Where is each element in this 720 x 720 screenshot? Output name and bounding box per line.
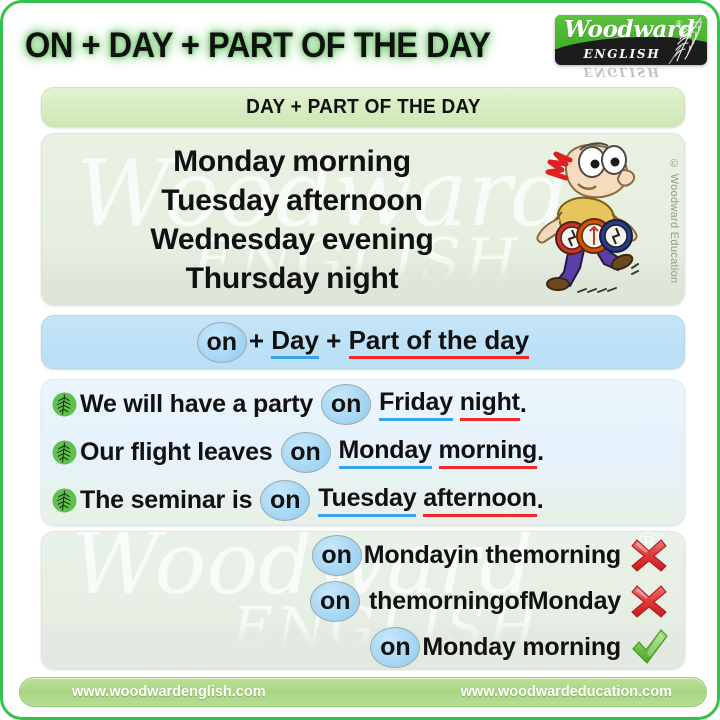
running-man-with-clocks-icon (526, 140, 646, 300)
phrase-italic: in the (457, 541, 522, 570)
fern-leaf-icon (661, 15, 705, 65)
phrase-italic-2: of (505, 587, 528, 616)
correct-incorrect-box: Woodward ENGLISH ® on Monday in the morn… (41, 531, 685, 669)
formula-day: Day (271, 325, 319, 359)
day-part-list: Mondaymorning Tuesdayafternoon Wednesday… (42, 142, 542, 298)
part-label: afternoon (286, 184, 423, 217)
list-item: Our flight leaves on Monday morning . (42, 428, 684, 476)
sentence-lead: Our flight leaves (80, 438, 273, 467)
list-item: Thursdaynight (42, 259, 542, 298)
formula-bar: on + Day + Part of the day (41, 315, 685, 369)
sentence-lead: We will have a party (80, 390, 313, 419)
on-chip: on (281, 432, 331, 473)
fern-leaf-bullet-icon (52, 488, 77, 513)
sentence-period: . (520, 390, 527, 419)
sentence-part: night (460, 388, 520, 421)
sentence-space (432, 438, 439, 467)
list-item: The seminar is on Tuesday afternoon . (42, 476, 684, 524)
on-chip-label: on (312, 535, 362, 576)
day-label: Monday (173, 145, 285, 178)
on-chip-label: on (321, 384, 371, 425)
formula-part-of-day: Part of the day (349, 325, 530, 359)
formula-plus-2: + (326, 325, 341, 355)
footer-url-english[interactable]: www.woodwardenglish.com (72, 684, 266, 700)
list-item: Tuesdayafternoon (42, 181, 542, 220)
on-chip-label: on (197, 322, 247, 363)
logo-reflection-text: ENGLISH (555, 65, 689, 79)
list-item: on Monday in the morning (42, 532, 684, 578)
formula-plus-1: + (249, 325, 264, 355)
phrase-before: Monday (364, 541, 457, 570)
part-label: evening (322, 223, 434, 256)
check-icon (630, 629, 668, 665)
formula-expression: on + Day + Part of the day (197, 322, 529, 363)
logo-plate: Woodward ® ENGLISH (555, 15, 707, 65)
list-item: Wednesdayevening (42, 220, 542, 259)
on-chip: on (197, 322, 247, 363)
on-chip-label: on (281, 432, 331, 473)
footer: www.woodwardenglish.com www.woodwardeduc… (19, 677, 707, 707)
on-chip-label: on (370, 627, 420, 668)
part-label: morning (292, 145, 411, 178)
phrase-after-2: Monday (528, 587, 621, 616)
sentence-part: afternoon (423, 484, 536, 517)
fern-leaf-bullet-icon (52, 392, 77, 417)
day-label: Tuesday (161, 184, 279, 217)
sentence-period: . (537, 438, 544, 467)
phrase-after: morning (406, 587, 505, 616)
list-item: on the morning of Monday (42, 578, 684, 624)
example-sentences-box: We will have a party on Friday night . (41, 379, 685, 525)
day-label: Wednesday (150, 223, 314, 256)
subtitle-text: DAY + PART OF THE DAY (246, 96, 481, 119)
sentence-space (416, 486, 423, 515)
sentence-space (453, 390, 460, 419)
cross-icon (630, 583, 668, 619)
on-chip-label: on (310, 581, 360, 622)
cross-icon (630, 537, 668, 573)
infographic-page: ON + DAY + PART OF THE DAY Woodward ® EN… (0, 0, 720, 720)
sentence-lead: The seminar is (80, 486, 252, 515)
phrase-space (362, 587, 369, 616)
sentence-day: Friday (379, 388, 453, 421)
page-title: ON + DAY + PART OF THE DAY (25, 26, 518, 66)
sentence-part: morning (439, 436, 538, 469)
phrase-before: Monday morning (422, 633, 621, 662)
phrase-after: morning (522, 541, 621, 570)
fern-leaf-bullet-icon (52, 440, 77, 465)
day-part-examples-box: Woodward ENGLISH Mondaymorning Tuesdayaf… (41, 133, 685, 305)
sentence-day: Monday (339, 436, 432, 469)
on-chip: on (321, 384, 371, 425)
sentence-period: . (537, 486, 544, 515)
sentence-day: Tuesday (318, 484, 416, 517)
woodward-english-logo: Woodward ® ENGLISH (555, 15, 707, 77)
list-item: We will have a party on Friday night . (42, 380, 684, 428)
copyright-text: © Woodward Education (668, 158, 680, 283)
footer-url-education[interactable]: www.woodwardeducation.com (461, 684, 672, 700)
on-chip: on (310, 581, 360, 622)
logo-reflection: ENGLISH (555, 65, 707, 79)
on-chip: on (370, 627, 420, 668)
part-label: night (326, 262, 398, 295)
subtitle-bar: DAY + PART OF THE DAY (41, 87, 685, 127)
on-chip-label: on (260, 480, 310, 521)
day-label: Thursday (186, 262, 319, 295)
header: ON + DAY + PART OF THE DAY Woodward ® EN… (3, 11, 720, 81)
phrase-italic: the (369, 587, 406, 616)
on-chip: on (260, 480, 310, 521)
list-item: on Monday morning (42, 624, 684, 669)
on-chip: on (312, 535, 362, 576)
list-item: Mondaymorning (42, 142, 542, 181)
